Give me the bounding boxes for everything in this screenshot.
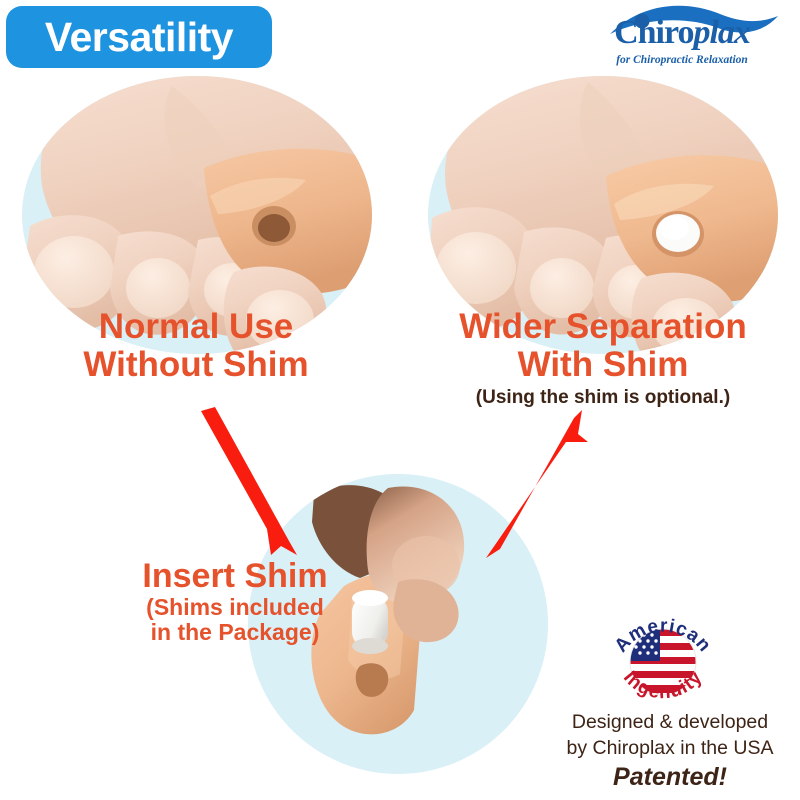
caption-bottom-line2: (Shims included <box>104 595 366 620</box>
chiroplax-logo: Chiroplax for Chiropractic Relaxation <box>582 4 782 76</box>
footer-patented: Patented! <box>545 763 795 792</box>
arrow-up-right-icon <box>478 408 598 563</box>
logo-swoosh-wrap: Chiroplax <box>582 4 782 50</box>
footer-line-1: Designed & developed <box>545 710 795 736</box>
caption-bottom-line1: Insert Shim <box>104 558 366 595</box>
footer-credits: Designed & developed by Chiroplax in the… <box>545 710 795 792</box>
arrow-down-right-icon <box>185 405 305 560</box>
logo-wordmark: Chiroplax <box>582 16 782 50</box>
caption-right-line2: With Shim <box>420 346 786 384</box>
caption-wider-separation: Wider Separation With Shim (Using the sh… <box>420 308 786 408</box>
caption-left-line2: Without Shim <box>20 346 372 384</box>
versatility-badge-label: Versatility <box>45 17 233 58</box>
caption-insert-shim: Insert Shim (Shims included in the Packa… <box>104 558 366 644</box>
caption-left-line1: Normal Use <box>20 308 372 346</box>
logo-wordmark-plax: plax <box>693 14 749 51</box>
american-ingenuity-seal: American Ingenuity <box>601 607 725 717</box>
caption-right-note: (Using the shim is optional.) <box>420 388 786 409</box>
caption-right-line1: Wider Separation <box>420 308 786 346</box>
caption-bottom-line3: in the Package) <box>104 620 366 645</box>
logo-wordmark-chiro: Chiro <box>614 14 693 51</box>
usa-flag-sphere-icon: American Ingenuity <box>601 607 725 717</box>
caption-normal-use: Normal Use Without Shim <box>20 308 372 384</box>
versatility-badge: Versatility <box>6 6 272 68</box>
logo-tagline: for Chiropractic Relaxation <box>582 54 782 66</box>
infographic-page: Versatility Chiroplax for Chiropractic R… <box>0 0 800 800</box>
footer-line-2: by Chiroplax in the USA <box>545 736 795 762</box>
